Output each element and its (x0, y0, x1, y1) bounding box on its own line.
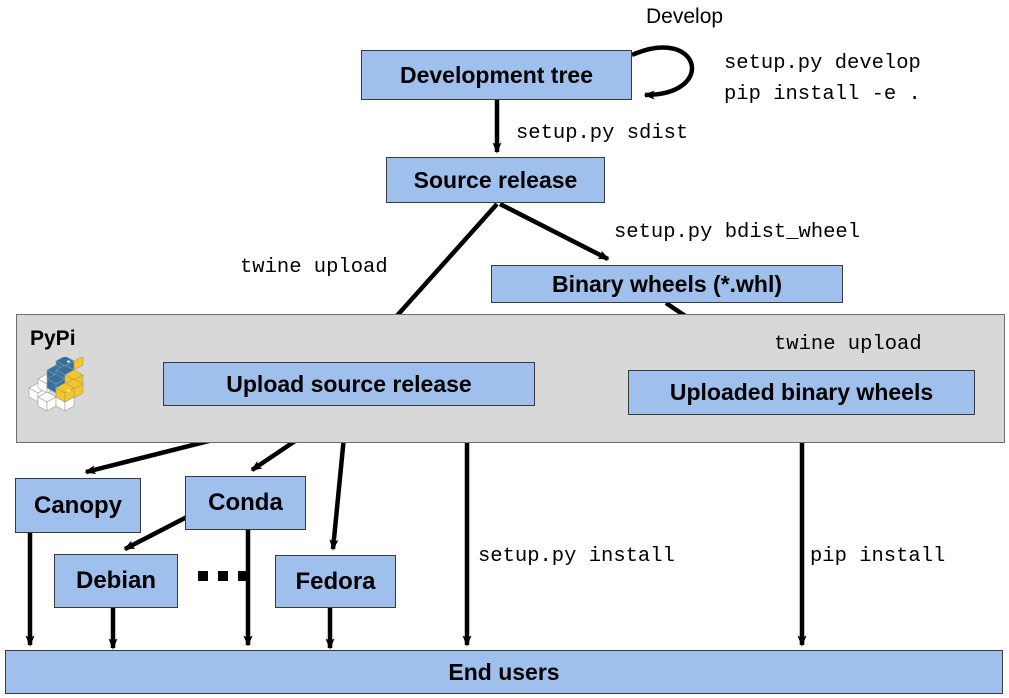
node-label-uploaded-binary-wheels: Uploaded binary wheels (670, 379, 933, 406)
edge-develop-selfloop (632, 48, 692, 95)
node-development-tree[interactable]: Development tree (361, 50, 632, 100)
ellipsis-dot (238, 571, 248, 581)
edge-label-setup-install: setup.py install (478, 545, 675, 568)
pypi-group-title: PyPi (30, 327, 76, 351)
edge-label-twine-upload-src: twine upload (240, 256, 388, 279)
edge-label-pip-install-e: pip install -e . (724, 83, 921, 106)
packaging-flow-diagram: PyPi (0, 0, 1009, 698)
node-label-conda: Conda (208, 489, 283, 517)
node-label-canopy: Canopy (34, 492, 122, 520)
ellipsis-dot (198, 571, 208, 581)
node-label-debian: Debian (76, 567, 156, 595)
edge-label-develop: Develop (646, 5, 723, 29)
edge-label-pip-install: pip install (810, 545, 945, 568)
node-canopy[interactable]: Canopy (15, 478, 141, 533)
edge-label-setup-bdist-wheel: setup.py bdist_wheel (614, 221, 860, 244)
edge-label-setup-develop: setup.py develop (724, 52, 921, 75)
node-fedora[interactable]: Fedora (275, 555, 396, 608)
node-label-binary-wheels: Binary wheels (*.whl) (552, 271, 782, 298)
node-end-users[interactable]: End users (5, 650, 1003, 694)
node-label-source-release: Source release (414, 167, 578, 194)
more-distros-ellipsis (198, 571, 248, 581)
node-label-fedora: Fedora (295, 568, 375, 596)
node-label-end-users: End users (448, 659, 559, 686)
edge-source-release-to-binary-wheels (500, 204, 608, 259)
edge-label-setup-sdist: setup.py sdist (516, 122, 688, 145)
node-source-release[interactable]: Source release (386, 157, 605, 203)
node-upload-source-release[interactable]: Upload source release (163, 362, 535, 406)
pypi-logo-icon (25, 357, 85, 411)
ellipsis-dot (218, 571, 228, 581)
node-label-development-tree: Development tree (400, 62, 593, 89)
node-uploaded-binary-wheels[interactable]: Uploaded binary wheels (628, 370, 975, 415)
node-debian[interactable]: Debian (54, 554, 178, 608)
node-conda[interactable]: Conda (185, 476, 306, 530)
edge-label-twine-upload-whl: twine upload (774, 333, 922, 356)
node-label-upload-source-release: Upload source release (226, 371, 471, 398)
node-binary-wheels[interactable]: Binary wheels (*.whl) (491, 265, 843, 303)
